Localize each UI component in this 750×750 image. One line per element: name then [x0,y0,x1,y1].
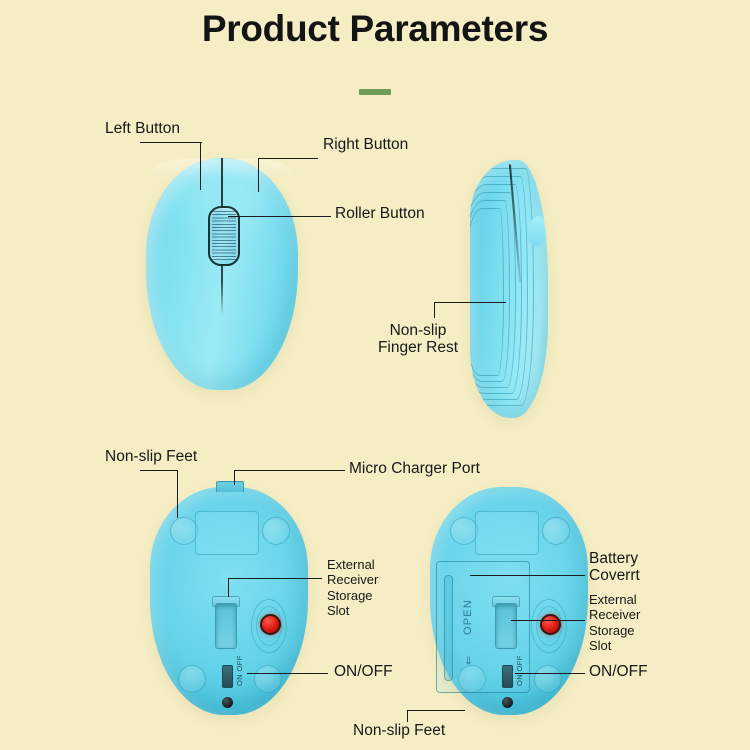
battery-cover-open-marking: OPEN [462,599,474,635]
callout-non-slip-feet-top-line-h [140,470,178,471]
mouse-bottom-right-view: OPEN ⇐ ON OFF [430,487,588,715]
callout-on-off-right-line [515,673,585,674]
bottom-screw-hole [222,697,233,708]
optical-sensor-led [260,614,281,635]
optical-sensor-led [540,614,561,635]
product-parameters-diagram: Product Parameters Left Button Right But… [0,0,750,750]
callout-right-button-label: Right Button [323,136,408,153]
receiver-storage-slot [215,603,237,649]
callout-roller-button-label: Roller Button [335,205,425,222]
mouse-side-view [470,160,548,418]
callout-non-slip-feet-top-label: Non-slip Feet [105,448,197,465]
power-switch-marking: ON OFF [235,655,244,686]
non-slip-foot-br [534,665,562,693]
mouse-side-nub [528,216,546,246]
scroll-wheel [208,206,240,266]
non-slip-foot-br [254,665,282,693]
callout-right-button-line-h [258,158,318,159]
non-slip-foot-tl [170,517,198,545]
callout-receiver-slot-right-label: External Receiver Storage Slot [589,592,640,653]
callout-roller-button-line [228,216,331,217]
power-switch [222,665,233,688]
product-label-area [195,511,259,555]
mouse-top-view [146,158,298,390]
title-divider [359,89,391,95]
callout-non-slip-feet-bottom-label: Non-slip Feet [353,722,445,739]
battery-cover-open-arrow: ⇐ [462,656,475,665]
micro-charger-port [216,481,244,492]
callout-battery-cover-label: Battery Coverrt [589,550,640,585]
callout-receiver-slot-left-label: External Receiver Storage Slot [327,557,378,618]
mouse-bottom-left-view: ON OFF [150,487,308,715]
non-slip-foot-bl [178,665,206,693]
callout-non-slip-feet-top-line-v [177,470,178,518]
callout-left-button-label: Left Button [105,120,180,137]
power-switch-marking: ON OFF [515,655,524,686]
bottom-screw-hole [502,697,513,708]
non-slip-foot-tr [542,517,570,545]
receiver-storage-slot [495,603,517,649]
page-title: Product Parameters [0,8,750,50]
callout-non-slip-feet-bottom-line-h [407,710,465,711]
non-slip-foot-tl [450,517,478,545]
callout-micro-charger-port-line-h [234,470,345,471]
callout-receiver-slot-left-line-v [228,578,229,597]
callout-receiver-slot-left-line-h [228,578,322,579]
callout-micro-charger-port-label: Micro Charger Port [349,460,480,477]
callout-finger-rest-line-h [434,302,506,303]
callout-left-button-line-v [200,142,201,190]
callout-on-off-left-line [247,673,328,674]
callout-finger-rest-line-v [434,302,435,318]
non-slip-foot-tr [262,517,290,545]
callout-receiver-slot-right-line [511,620,585,621]
callout-non-slip-feet-bottom-line-v [407,710,408,722]
callout-on-off-left-label: ON/OFF [334,663,393,680]
callout-left-button-line-h [140,142,202,143]
battery-cover-groove [444,575,453,681]
callout-finger-rest-label: Non-slip Finger Rest [360,322,476,357]
power-switch [502,665,513,688]
mouse-side-shell [470,160,548,418]
callout-battery-cover-line [470,575,585,576]
product-label-area [475,511,539,555]
callout-on-off-right-label: ON/OFF [589,663,648,680]
callout-right-button-line-v [258,158,259,192]
scroll-wheel-ridges [212,211,236,261]
callout-micro-charger-port-line-v [234,470,235,485]
